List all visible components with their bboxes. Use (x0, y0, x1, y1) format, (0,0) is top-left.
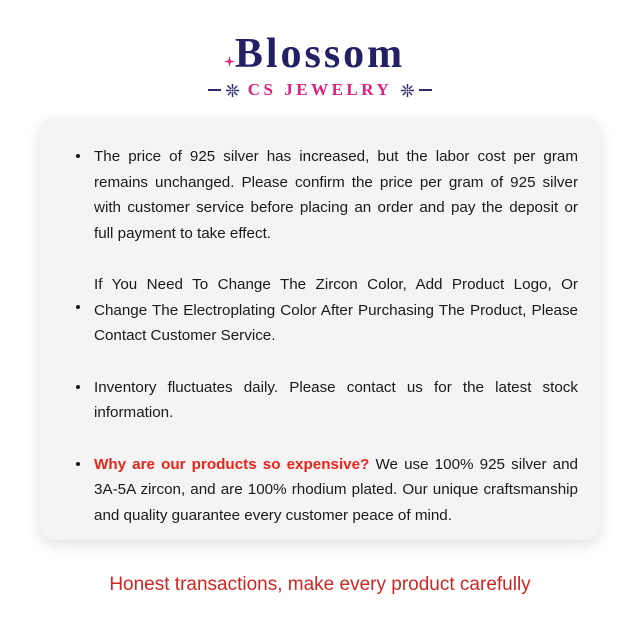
left-dash-divider (208, 89, 221, 91)
list-item: Inventory fluctuates daily. Please conta… (62, 375, 578, 426)
sparkle-icon (224, 56, 235, 67)
bullet-text-1: The price of 925 silver has increased, b… (94, 144, 578, 246)
list-item: If You Need To Change The Zircon Color, … (62, 272, 578, 349)
bullet-dot-icon (76, 305, 80, 309)
bullet-text-2: If You Need To Change The Zircon Color, … (94, 272, 578, 349)
brand-subtitle-row: CS JEWELRY (0, 80, 640, 100)
bullet-text-3: Inventory fluctuates daily. Please conta… (94, 375, 578, 426)
snowflake-ornament-right-icon (401, 84, 414, 97)
right-dash-divider (419, 89, 432, 91)
bullet-text-4: Why are our products so expensive? We us… (94, 452, 578, 529)
footer-slogan: Honest transactions, make every product … (0, 572, 640, 598)
brand-name-wrapper: Blossom (225, 30, 415, 78)
bullet-dot-icon (76, 154, 80, 158)
bullet-dot-icon (76, 385, 80, 389)
brand-subtitle-text: CS JEWELRY (244, 80, 396, 100)
snowflake-ornament-left-icon (226, 84, 239, 97)
brand-logo-block: Blossom CS JEWELRY (0, 30, 640, 100)
notice-card: The price of 925 silver has increased, b… (40, 118, 600, 540)
brand-name-text: Blossom (235, 31, 405, 77)
bullet-dot-icon (76, 462, 80, 466)
list-item: The price of 925 silver has increased, b… (62, 144, 578, 246)
bullet-highlight-question: Why are our products so expensive? (94, 456, 369, 473)
policy-bullet-list: The price of 925 silver has increased, b… (62, 144, 578, 528)
list-item: Why are our products so expensive? We us… (62, 452, 578, 529)
